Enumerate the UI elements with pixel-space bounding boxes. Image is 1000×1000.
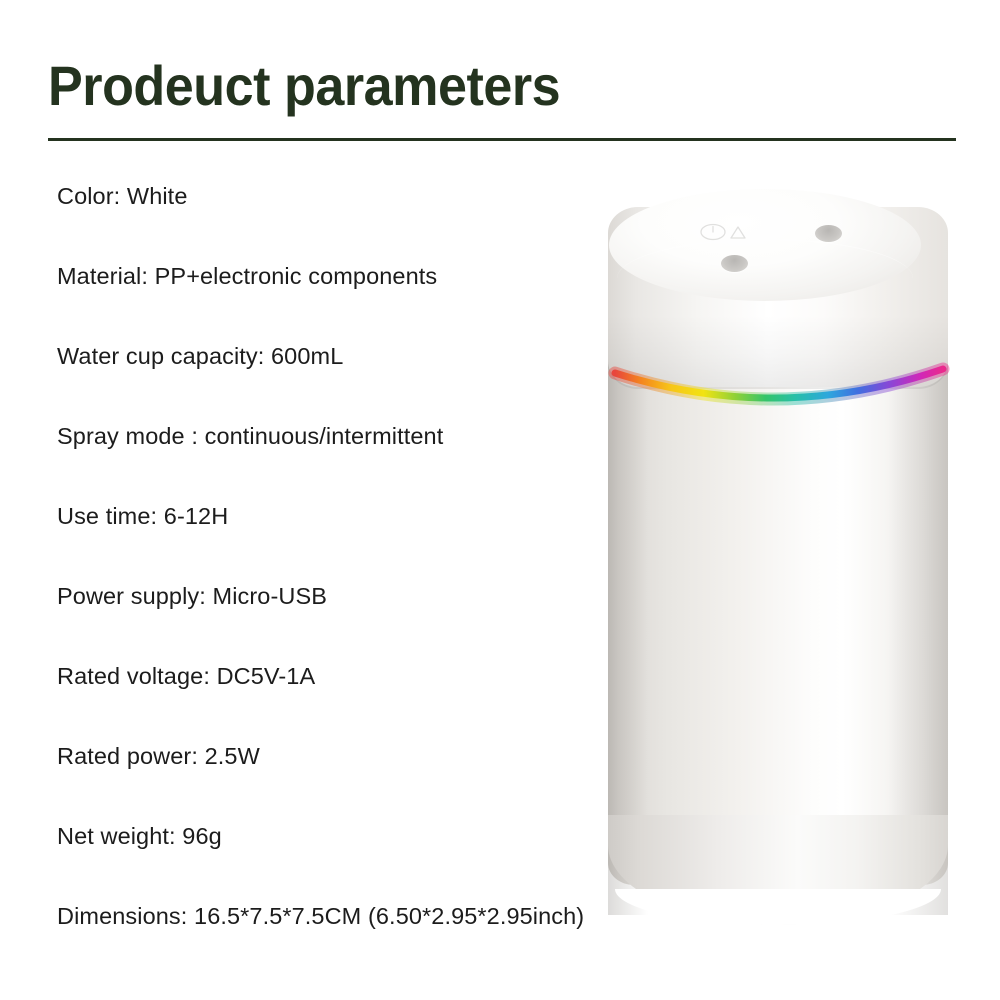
- lid-seam-line: [617, 239, 913, 318]
- title-divider: [48, 138, 956, 141]
- product-image-humidifier: [595, 195, 945, 910]
- power-symbol-icon: [699, 221, 751, 243]
- page-title: Prodeuct parameters: [48, 54, 560, 118]
- nozzle-vent-front-icon: [721, 255, 748, 272]
- nozzle-vent-rear-icon: [815, 225, 842, 242]
- product-parameters-page: Prodeuct parameters Color: White Materia…: [0, 0, 1000, 1000]
- lid-bottom-shading: [608, 315, 948, 389]
- spec-item-dimensions: Dimensions: 16.5*7.5*7.5CM (6.50*2.95*2.…: [57, 902, 757, 982]
- humidifier-base: [608, 815, 948, 925]
